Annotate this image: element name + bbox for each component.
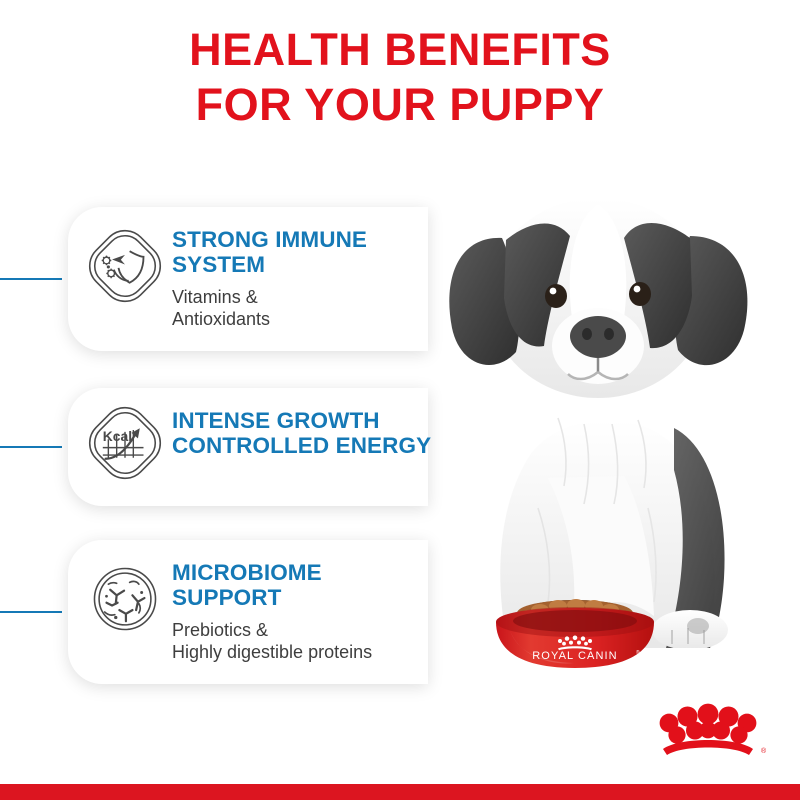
benefit-card-microbiome: MICROBIOME SUPPORT Prebiotics & Highly d… xyxy=(68,540,428,684)
immune-shield-icon xyxy=(82,225,168,303)
bowl-registered-mark: ® xyxy=(636,649,640,656)
benefit-heading-growth: INTENSE GROWTH CONTROLLED ENERGY xyxy=(172,408,431,458)
kcal-growth-chart-icon: Kcal xyxy=(82,406,168,480)
infographic-page: HEALTH BENEFITS FOR YOUR PUPPY xyxy=(0,0,800,800)
connector-line-1 xyxy=(0,278,62,280)
connector-line-2 xyxy=(0,446,62,448)
bowl-brand-label: ROYAL CANIN xyxy=(532,650,617,662)
page-title: HEALTH BENEFITS FOR YOUR PUPPY xyxy=(0,22,800,132)
bottom-red-bar xyxy=(0,784,800,800)
connector-line-3 xyxy=(0,611,62,613)
benefit-text-microbiome: MICROBIOME SUPPORT Prebiotics & Highly d… xyxy=(168,558,372,663)
benefit-text-growth: INTENSE GROWTH CONTROLLED ENERGY xyxy=(168,406,431,458)
page-title-line-2: FOR YOUR PUPPY xyxy=(0,77,800,132)
benefit-heading-microbiome: MICROBIOME SUPPORT xyxy=(172,560,372,610)
puppy-photo xyxy=(398,178,800,648)
royal-canin-crown-logo: ® xyxy=(648,697,768,759)
kcal-icon-label: Kcal xyxy=(103,428,132,444)
benefit-heading-immune: STRONG IMMUNE SYSTEM xyxy=(172,227,367,277)
benefit-text-immune: STRONG IMMUNE SYSTEM Vitamins & Antioxid… xyxy=(168,225,367,330)
page-title-line-1: HEALTH BENEFITS xyxy=(0,22,800,77)
benefit-subtitle-microbiome: Prebiotics & Highly digestible proteins xyxy=(172,619,372,663)
food-bowl: ROYAL CANIN ® xyxy=(488,596,662,676)
microbiome-bacteria-icon xyxy=(82,558,168,636)
corner-logo-registered-mark: ® xyxy=(761,747,767,755)
benefit-card-immune: STRONG IMMUNE SYSTEM Vitamins & Antioxid… xyxy=(68,207,428,351)
benefit-card-growth: Kcal INTENSE GROWTH CONTROLLED ENERGY xyxy=(68,388,428,506)
benefit-subtitle-immune: Vitamins & Antioxidants xyxy=(172,286,367,330)
